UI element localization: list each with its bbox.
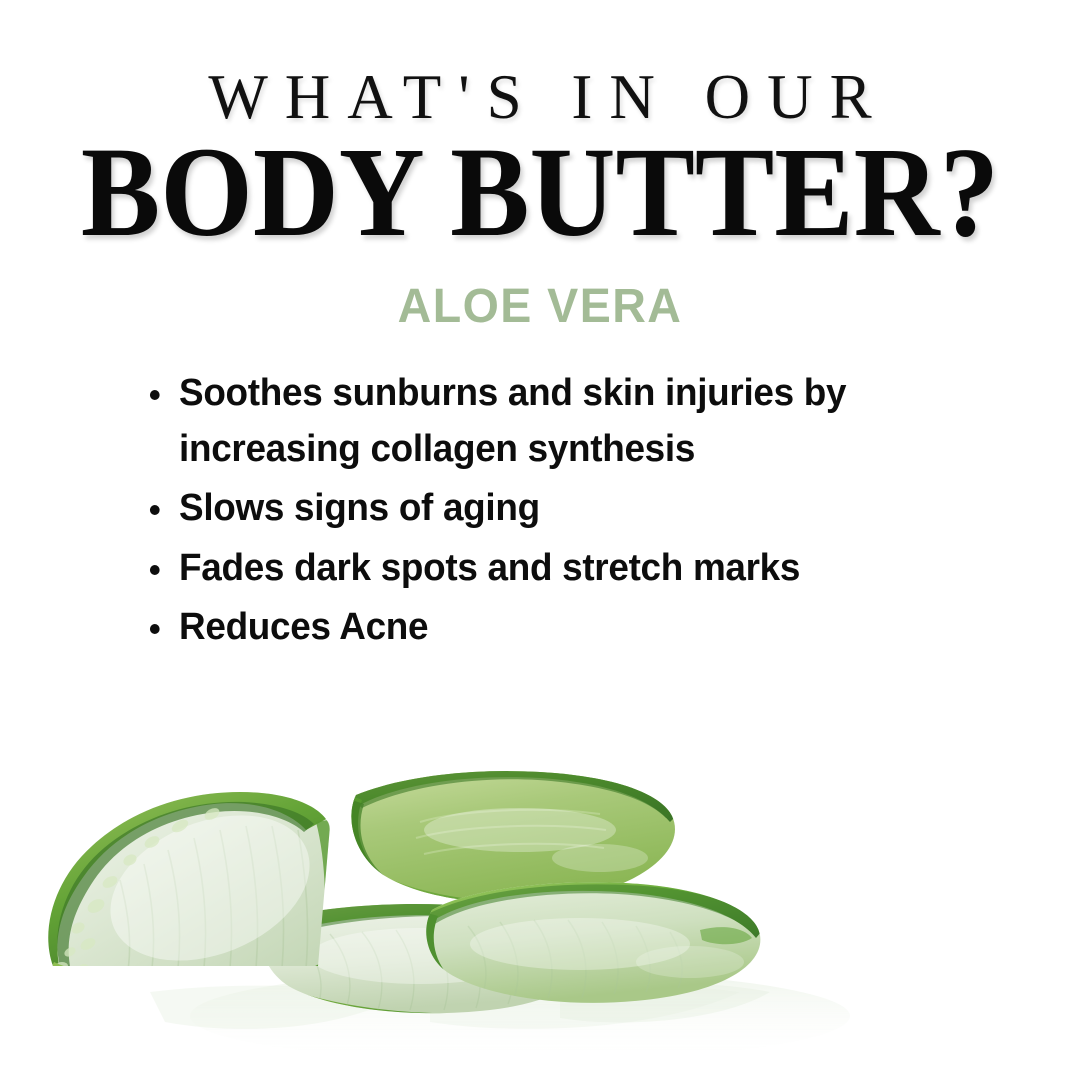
ingredient-name: ALOE VERA [16, 283, 1064, 331]
list-item-label: Soothes sunburns and skin injuries by in… [179, 365, 953, 477]
aloe-vera-image [0, 730, 1080, 1080]
list-item: Reduces Acne [148, 599, 953, 655]
bullet-icon [150, 390, 160, 400]
list-item-label: Reduces Acne [179, 599, 953, 655]
bullet-icon [150, 505, 160, 515]
aloe-vera-illustration [0, 730, 1080, 1080]
page-title: BODY BUTTER? [38, 128, 1042, 256]
aloe-piece-left [39, 786, 335, 990]
poster-canvas: WHAT'S IN OUR BODY BUTTER? ALOE VERA Soo… [0, 0, 1080, 1080]
eyebrow-text: WHAT'S IN OUR [0, 66, 1080, 129]
list-item-label: Fades dark spots and stretch marks [179, 540, 953, 596]
bullet-icon [150, 565, 160, 575]
bullet-icon [150, 624, 160, 634]
benefits-list: Soothes sunburns and skin injuries by in… [148, 365, 978, 658]
list-item: Soothes sunburns and skin injuries by in… [148, 365, 953, 477]
list-item: Fades dark spots and stretch marks [148, 540, 953, 596]
list-item: Slows signs of aging [148, 480, 953, 536]
list-item-label: Slows signs of aging [179, 480, 953, 536]
